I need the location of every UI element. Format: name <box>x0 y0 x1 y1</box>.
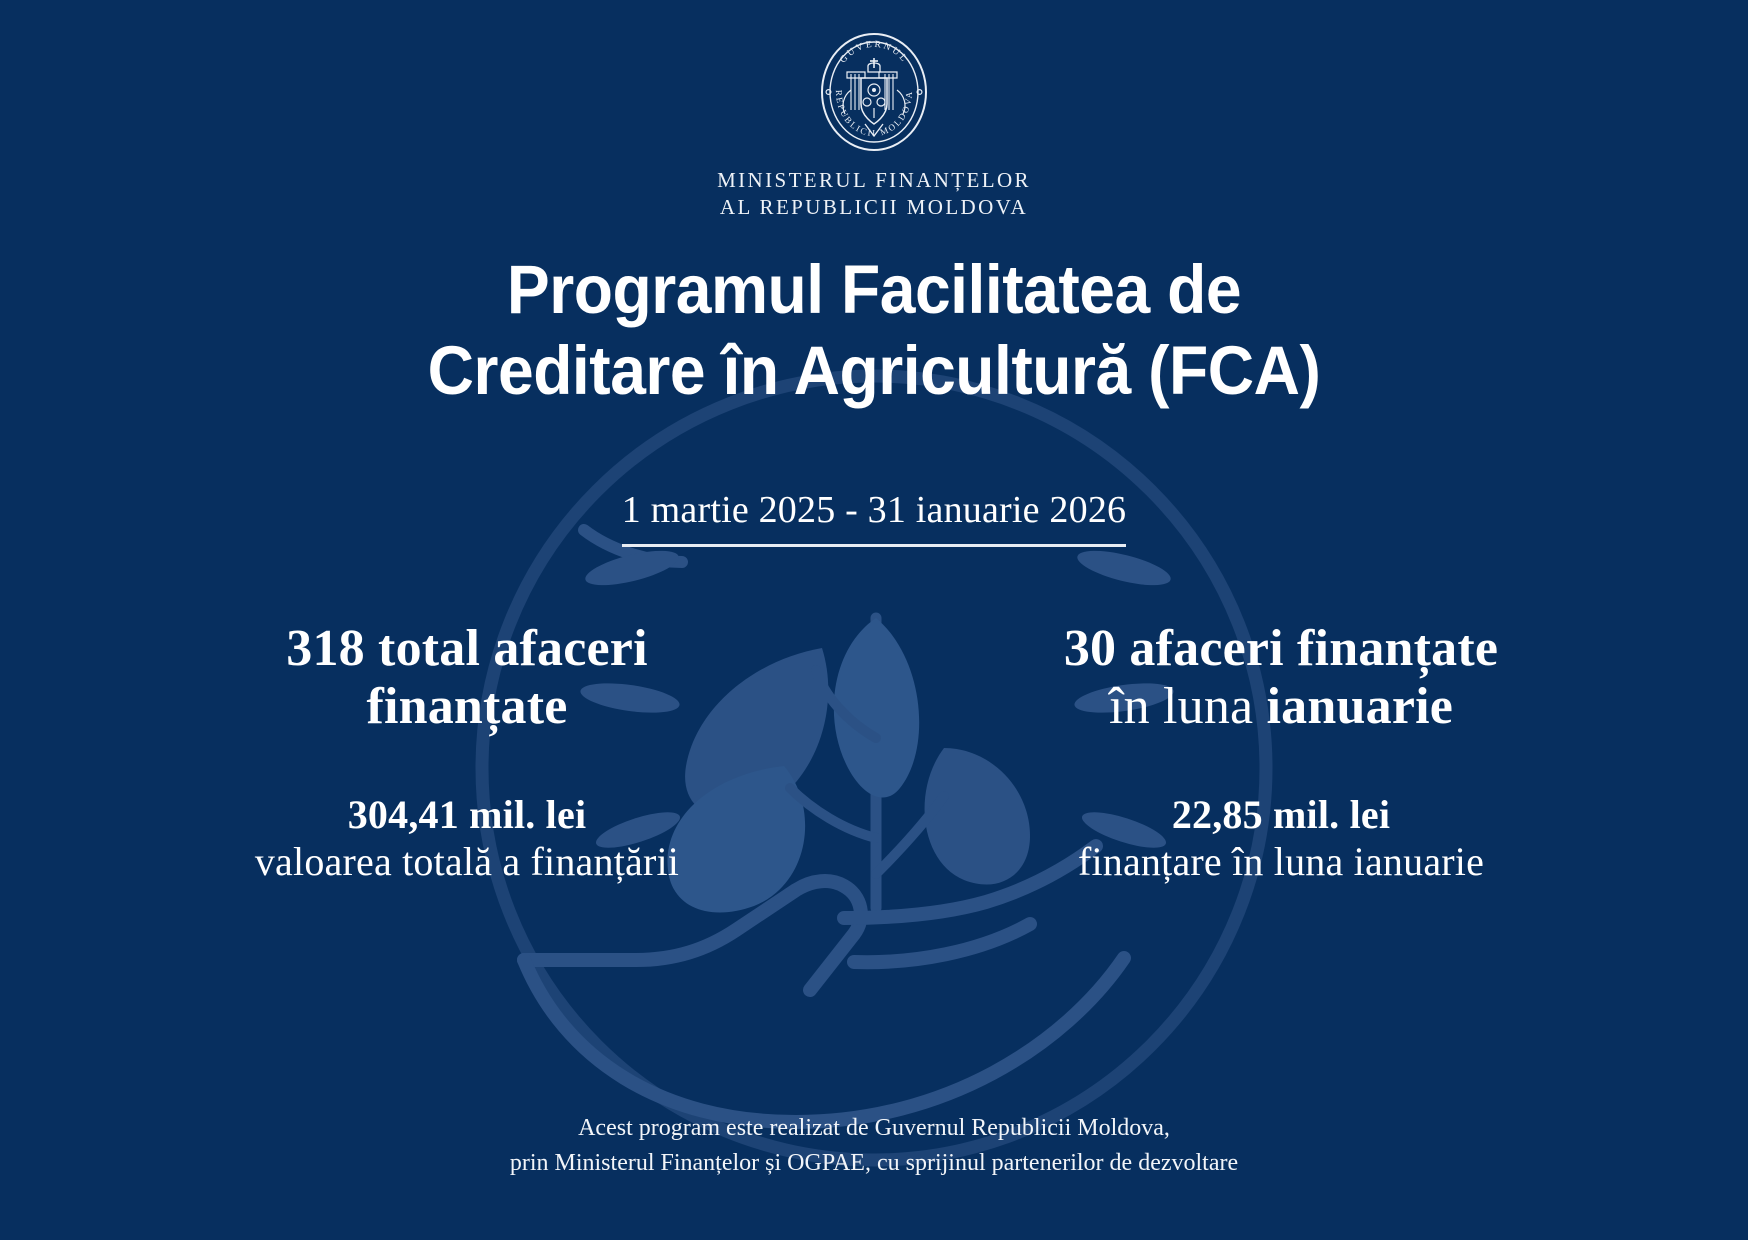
title-line1: Programul Facilitatea de <box>61 250 1687 331</box>
page-title: Programul Facilitatea de Creditare în Ag… <box>61 250 1687 411</box>
footer-line1: Acest program este realizat de Guvernul … <box>0 1111 1748 1147</box>
stat-monthly-value: 22,85 mil. lei finanțare în luna ianuari… <box>874 792 1688 885</box>
infographic-poster: GUVERNUL REPUBLICII MOLDOVA <box>0 0 1748 1240</box>
stat-total-businesses: 318 total afaceri finanțate <box>60 620 874 736</box>
ministry-name-line1: MINISTERUL FINANȚELOR <box>0 167 1748 194</box>
ministry-logo-block: GUVERNUL REPUBLICII MOLDOVA <box>0 30 1748 221</box>
stat-monthly-businesses-line2-light: în luna <box>1109 678 1267 735</box>
stat-total-businesses-line2: finanțate <box>70 678 864 736</box>
title-block: Programul Facilitatea de Creditare în Ag… <box>0 250 1748 411</box>
ministry-name: MINISTERUL FINANȚELOR AL REPUBLICII MOLD… <box>0 167 1748 221</box>
title-line2: Creditare în Agricultură (FCA) <box>61 331 1687 412</box>
stat-monthly-businesses: 30 afaceri finanțate în luna ianuarie <box>874 620 1688 736</box>
stat-monthly-value-label: finanțare în luna ianuarie <box>884 839 1678 885</box>
stat-total-value-amount: 304,41 mil. lei <box>70 792 864 838</box>
period-block: 1 martie 2025 - 31 ianuarie 2026 <box>0 490 1748 547</box>
period-range: 1 martie 2025 - 31 ianuarie 2026 <box>622 490 1126 547</box>
stat-total-value-label: valoarea totală a finanțării <box>70 839 864 885</box>
footer-note: Acest program este realizat de Guvernul … <box>0 1111 1748 1182</box>
stat-monthly-businesses-line2-bold: ianuarie <box>1267 678 1454 735</box>
stats-grid: 318 total afaceri finanțate 30 afaceri f… <box>60 620 1688 885</box>
stat-monthly-value-amount: 22,85 mil. lei <box>884 792 1678 838</box>
stat-monthly-businesses-line2: în luna ianuarie <box>884 678 1678 736</box>
stat-total-businesses-line1: 318 total afaceri <box>70 620 864 678</box>
ministry-name-line2: AL REPUBLICII MOLDOVA <box>0 194 1748 221</box>
moldova-government-seal-icon: GUVERNUL REPUBLICII MOLDOVA <box>815 30 933 155</box>
stat-monthly-businesses-line1: 30 afaceri finanțate <box>884 620 1678 678</box>
footer-line2: prin Ministerul Finanțelor și OGPAE, cu … <box>0 1146 1748 1182</box>
stat-total-value: 304,41 mil. lei valoarea totală a finanț… <box>60 792 874 885</box>
